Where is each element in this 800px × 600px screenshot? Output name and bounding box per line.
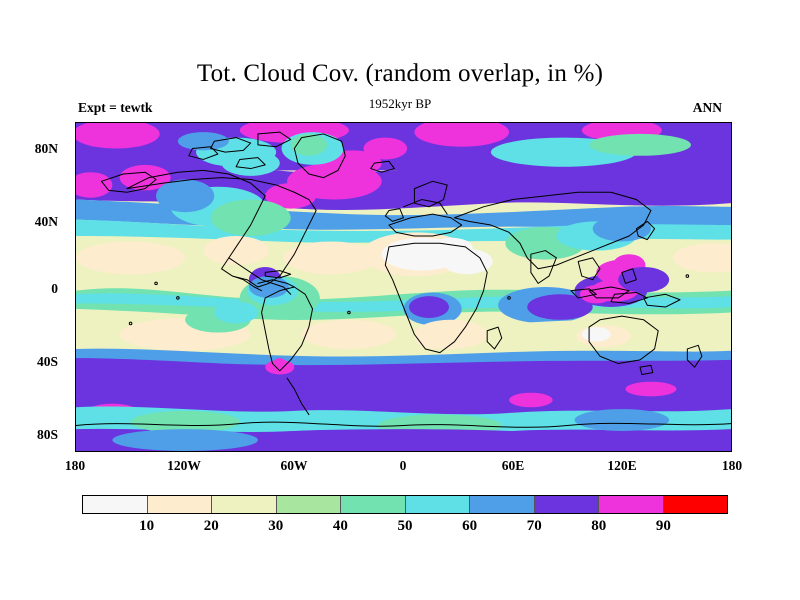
xtick-0: 0 [400,458,407,474]
xtick-120w: 120W [167,458,201,474]
colorbar-tick-10: 10 [139,518,154,535]
colorbar-band [212,496,277,513]
colorbar-tick-50: 50 [398,518,413,535]
ytick-40s: 40S [0,354,58,370]
colorbar-band [83,496,148,513]
colorbar-band [148,496,213,513]
xtick-60w: 60W [281,458,308,474]
colorbar-tick-60: 60 [462,518,477,535]
ytick-40n: 40N [0,214,58,230]
ytick-0: 0 [0,281,58,297]
map-plot-area [75,122,732,452]
colorbar-band [406,496,471,513]
colorbar-band [277,496,342,513]
ytick-80s: 80S [0,427,58,443]
colorbar-band [470,496,535,513]
colorbar-tick-90: 90 [656,518,671,535]
colorbar-tick-20: 20 [204,518,219,535]
colorbar-tick-70: 70 [527,518,542,535]
colorbar-band [535,496,600,513]
colorbar-band [341,496,406,513]
ytick-80n: 80N [0,141,58,157]
colorbar [82,495,728,514]
xtick-180w: 180 [65,458,85,474]
page-title: Tot. Cloud Cov. (random overlap, in %) [0,60,800,88]
colorbar-tick-80: 80 [591,518,606,535]
colorbar-band [599,496,664,513]
contour-fill-layer [76,123,731,451]
season-label: ANN [0,100,722,116]
xtick-60e: 60E [502,458,525,474]
colorbar-band [664,496,728,513]
cloud-cover-field [76,123,731,451]
colorbar-tick-40: 40 [333,518,348,535]
xtick-120e: 120E [607,458,636,474]
figure-canvas: Tot. Cloud Cov. (random overlap, in %) E… [0,0,800,600]
xtick-180e: 180 [722,458,742,474]
colorbar-tick-30: 30 [268,518,283,535]
